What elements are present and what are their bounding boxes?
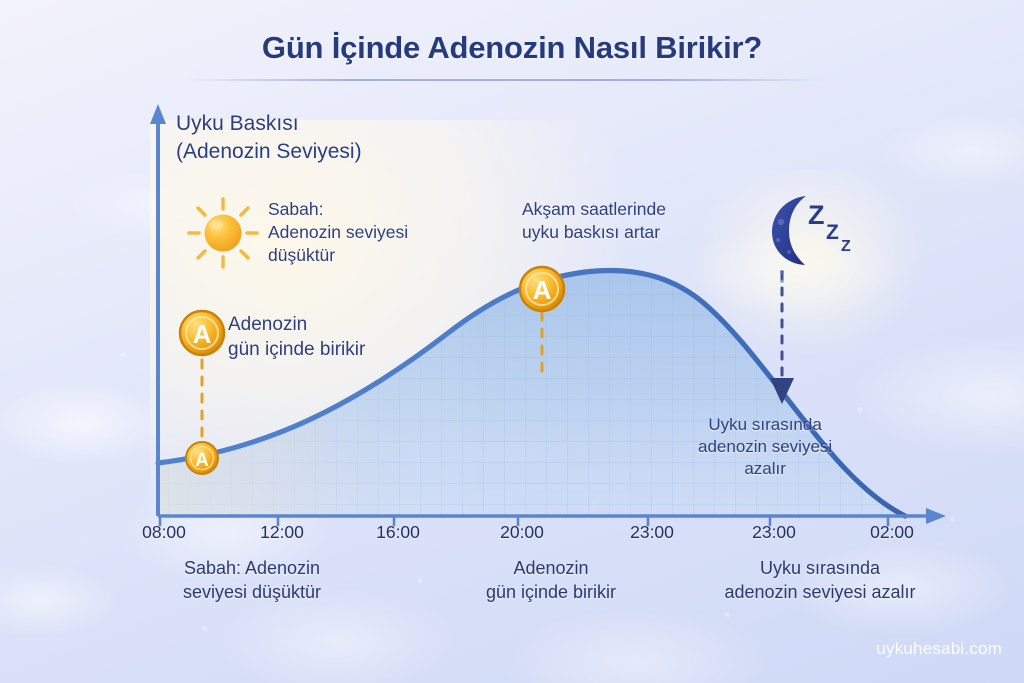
- xtick-label-4: 23:00: [630, 522, 674, 543]
- svg-text:Z: Z: [826, 221, 839, 244]
- note-sleep-line2: adenozin seviyesi: [698, 436, 832, 458]
- xtick-label-5: 23:00: [752, 522, 796, 543]
- note-morning-line3: düşüktür: [268, 244, 408, 267]
- note-sleep-line3: azalır: [698, 458, 832, 480]
- xtick-label-1: 12:00: [260, 522, 304, 543]
- badge-morning-adenosine[interactable]: A: [186, 442, 218, 474]
- badge-letter-evening: A: [533, 275, 552, 305]
- infographic-canvas: Gün İçinde Adenozin Nasıl Birikir?: [0, 0, 1024, 683]
- watermark: uykuhesabi.com: [876, 639, 1002, 659]
- caption-sleep: Uyku sırasında adenozin seviyesi azalır: [724, 556, 915, 605]
- caption-morning: Sabah: Adenozin seviyesi düşüktür: [183, 556, 321, 605]
- svg-text:Z: Z: [808, 200, 825, 230]
- svg-text:Z: Z: [841, 238, 851, 255]
- sleep-arrow: [770, 272, 794, 404]
- sun-icon: [186, 196, 260, 270]
- note-morning: Sabah: Adenozin seviyesi düşüktür: [268, 198, 408, 266]
- note-evening-line1: Akşam saatlerinde: [522, 198, 666, 221]
- note-accumulate-line1: Adenozin: [228, 313, 365, 338]
- y-axis: [150, 104, 166, 516]
- caption-morning-line2: seviyesi düşüktür: [183, 580, 321, 604]
- badge-accumulate-adenosine[interactable]: A: [180, 311, 224, 355]
- badge-evening-adenosine[interactable]: A: [520, 267, 564, 311]
- moon-zzz-icon: Z Z Z: [762, 192, 868, 268]
- note-accumulate-line2: gün içinde birikir: [228, 338, 365, 363]
- y-axis-title: Uyku Baskısı (Adenozin Seviyesi): [176, 110, 362, 165]
- note-morning-line1: Sabah:: [268, 198, 408, 221]
- note-sleep-line1: Uyku sırasında: [698, 414, 832, 436]
- note-evening: Akşam saatlerinde uyku baskısı artar: [522, 198, 666, 244]
- caption-sleep-line2: adenozin seviyesi azalır: [724, 580, 915, 604]
- y-axis-title-line1: Uyku Baskısı: [176, 112, 299, 135]
- y-axis-title-line2: (Adenozin Seviyesi): [176, 138, 362, 166]
- moon-dot-trail: [770, 268, 794, 286]
- note-accumulate: Adenozin gün içinde birikir: [228, 313, 365, 362]
- note-evening-line2: uyku baskısı artar: [522, 221, 666, 244]
- xtick-label-6: 02:00: [870, 522, 914, 543]
- xtick-label-3: 20:00: [500, 522, 544, 543]
- note-morning-line2: Adenozin seviyesi: [268, 221, 408, 244]
- caption-accumulate-line2: gün içinde birikir: [486, 580, 616, 604]
- caption-accumulate-line1: Adenozin: [486, 556, 616, 580]
- badge-letter-morning: A: [195, 450, 209, 471]
- xtick-label-2: 16:00: [376, 522, 420, 543]
- note-sleep: Uyku sırasında adenozin seviyesi azalır: [698, 414, 832, 480]
- caption-sleep-line1: Uyku sırasında: [724, 556, 915, 580]
- xtick-label-0: 08:00: [142, 522, 186, 543]
- caption-accumulate: Adenozin gün içinde birikir: [486, 556, 616, 605]
- badge-letter-accumulate: A: [193, 319, 212, 349]
- caption-morning-line1: Sabah: Adenozin: [183, 556, 321, 580]
